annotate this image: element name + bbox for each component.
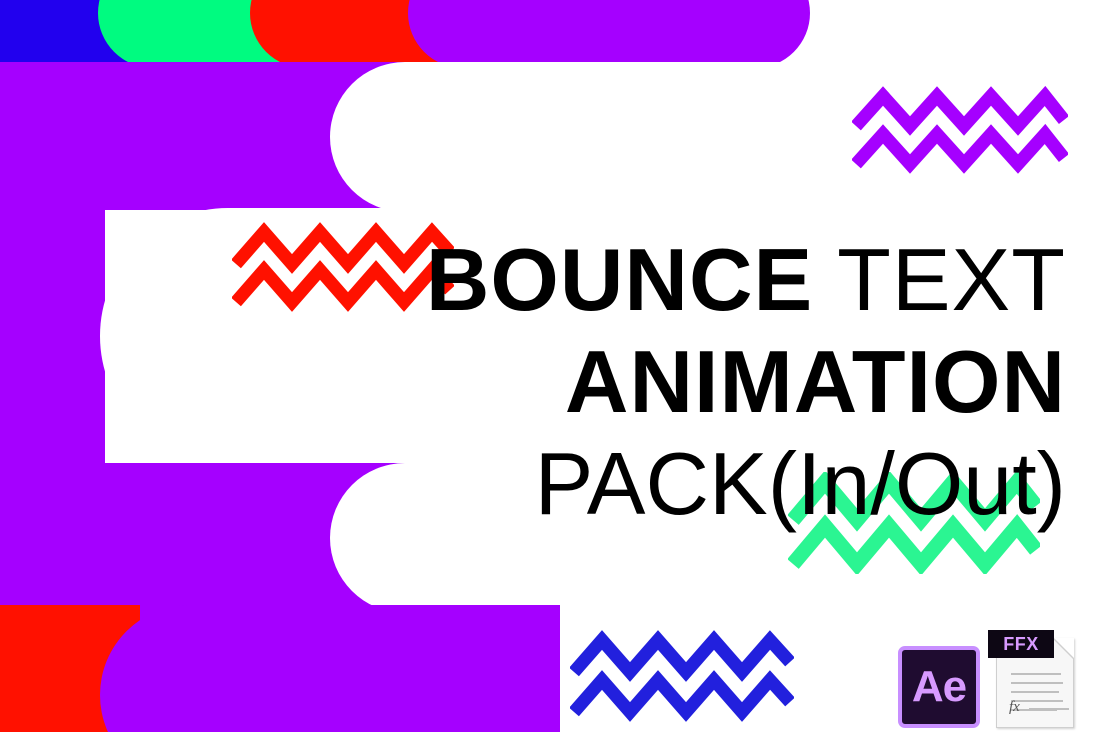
ffx-banner: FFX [988,630,1054,658]
headline-line-1: BOUNCE TEXT [0,236,1066,324]
fx-line [1029,708,1069,710]
headline-animation: ANIMATION [0,338,1066,426]
after-effects-icon[interactable]: Ae [898,646,980,728]
headline-block: BOUNCE TEXT ANIMATION PACK(In/Out) [0,236,1066,528]
icon-row: Ae fx FFX [898,628,1088,732]
ffx-file-icon[interactable]: fx FFX [988,628,1076,730]
band-purple-notch-bottom [100,605,560,732]
top-blob-strip [0,0,1098,68]
after-effects-label: Ae [912,665,966,709]
headline-bounce: BOUNCE [426,230,813,329]
fx-label: fx [1009,700,1020,715]
headline-pack: PACK(In/Out) [0,440,1066,528]
poster-canvas: BOUNCE TEXT ANIMATION PACK(In/Out) Ae fx… [0,0,1098,732]
top-blob-purple [408,0,810,68]
zigzag-purple-top-right [852,86,1068,176]
ffx-banner-label: FFX [1003,635,1039,653]
page-fold-corner [1054,638,1074,658]
headline-text: TEXT [813,230,1066,329]
zigzag-blue-bottom [570,630,794,724]
